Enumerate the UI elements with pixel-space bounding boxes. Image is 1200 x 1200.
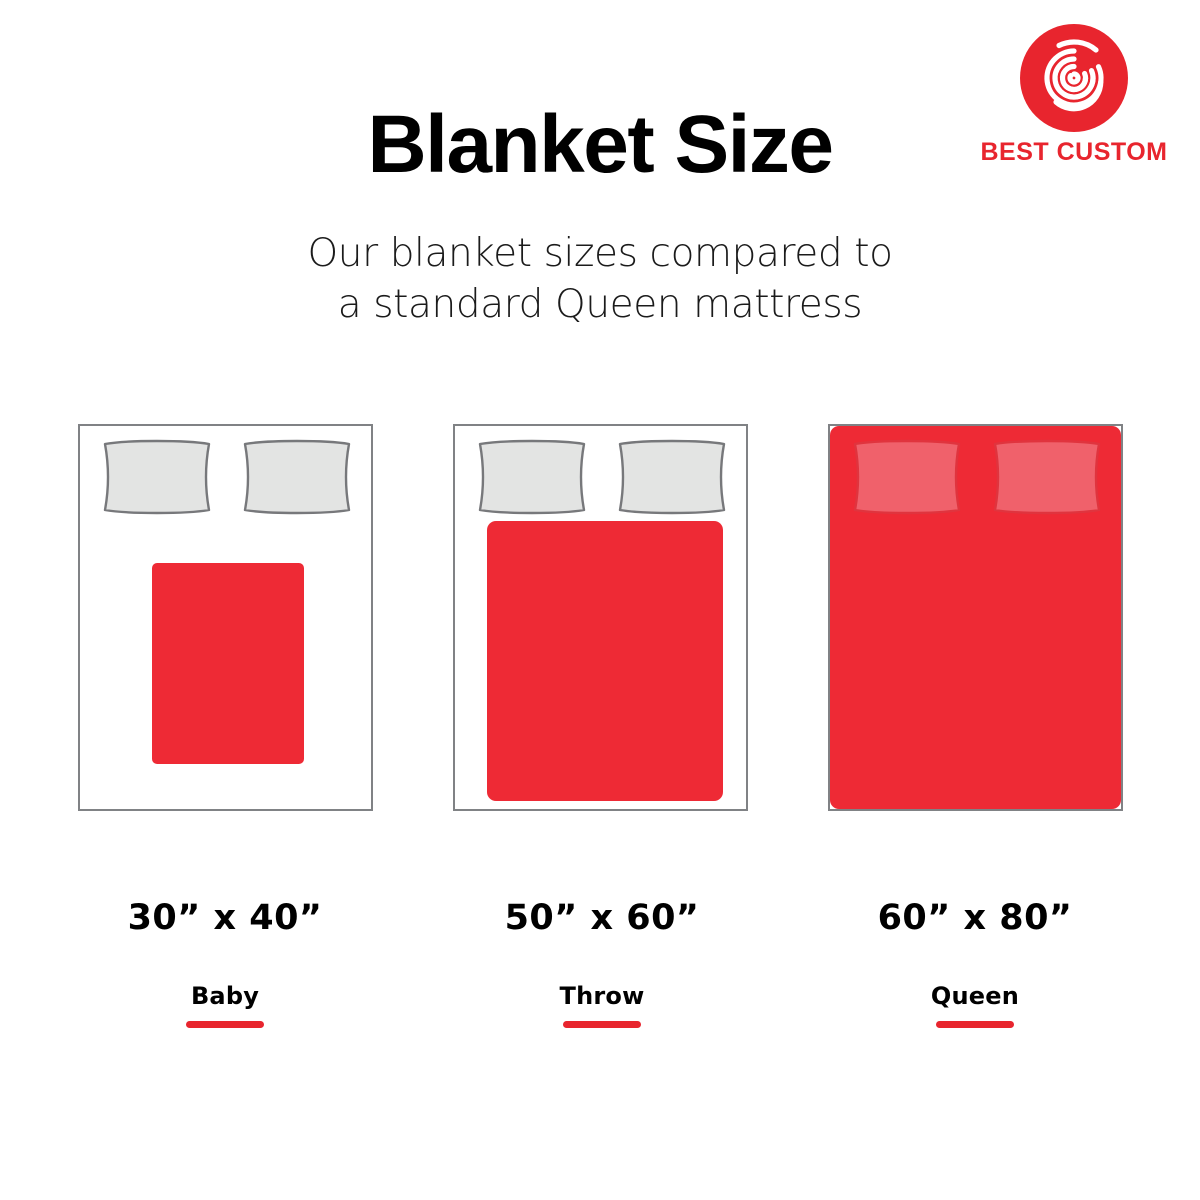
- underline-rule: [563, 1021, 641, 1028]
- page-title: Blanket Size: [0, 104, 1200, 186]
- blanket-queen: [830, 426, 1121, 809]
- blanket-throw: [487, 521, 723, 801]
- subtitle-line-2: a standard Queen mattress: [0, 279, 1200, 330]
- underline-rule: [186, 1021, 264, 1028]
- pillow-right: [613, 438, 731, 516]
- underline-rule: [936, 1021, 1014, 1028]
- caption-baby: 30” x 40” Baby: [60, 898, 390, 1028]
- page-subtitle: Our blanket sizes compared to a standard…: [0, 228, 1200, 331]
- pillow-right: [988, 438, 1106, 516]
- caption-queen: 60” x 80” Queen: [810, 898, 1140, 1028]
- pillow-left: [473, 438, 591, 516]
- caption-throw: 50” x 60” Throw: [437, 898, 767, 1028]
- pillow-right: [238, 438, 356, 516]
- subtitle-line-1: Our blanket sizes compared to: [0, 228, 1200, 279]
- size-label: 30” x 40”: [60, 898, 390, 938]
- bed-diagram-baby: [78, 424, 373, 811]
- bed-diagram-queen: [828, 424, 1123, 811]
- name-label: Throw: [437, 982, 767, 1010]
- bed-diagram-row: [0, 424, 1200, 814]
- pillow-left: [98, 438, 216, 516]
- name-label: Queen: [810, 982, 1140, 1010]
- pillow-left: [848, 438, 966, 516]
- size-label: 50” x 60”: [437, 898, 767, 938]
- caption-row: 30” x 40” Baby 50” x 60” Throw 60” x 80”…: [0, 898, 1200, 1058]
- bed-diagram-throw: [453, 424, 748, 811]
- name-label: Baby: [60, 982, 390, 1010]
- size-label: 60” x 80”: [810, 898, 1140, 938]
- blanket-baby: [152, 563, 304, 764]
